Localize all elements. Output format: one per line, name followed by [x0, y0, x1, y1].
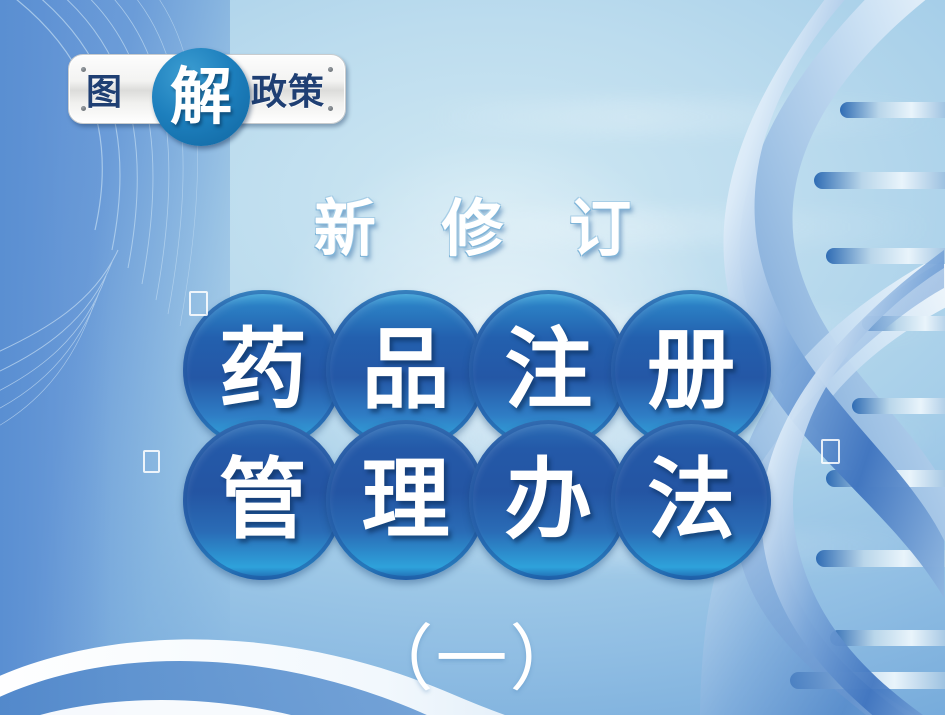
- title-row-2: 管 理 办 法: [183, 420, 771, 580]
- title-char: 品: [362, 326, 450, 414]
- title-circle: 理: [326, 420, 486, 580]
- badge-tujie-zhengce[interactable]: 图 政策 解: [68, 48, 348, 132]
- badge-left-text: 图: [86, 63, 123, 115]
- title-char: 理: [362, 456, 450, 544]
- title-circle: 法: [611, 420, 771, 580]
- screw-icon: [328, 67, 333, 72]
- missing-glyph-box: [821, 439, 840, 464]
- speech-bubble-icon: 解: [152, 48, 250, 146]
- poster-canvas: 图 政策 解 新 修 订 药 品 注 册 管 理 办 法 （一）: [0, 0, 945, 715]
- title-char: 册: [647, 326, 735, 414]
- title-circle: 管: [183, 420, 343, 580]
- badge-bubble-text: 解: [170, 66, 232, 128]
- missing-glyph-box: [143, 450, 160, 473]
- missing-glyph-box: [189, 291, 208, 316]
- badge-right-text: 政策: [251, 63, 325, 115]
- main-title-circles: 药 品 注 册 管 理 办 法: [183, 290, 771, 580]
- flowing-line-pattern-left: [0, 250, 118, 436]
- title-circle: 办: [469, 420, 629, 580]
- volume-number: （一）: [0, 600, 945, 705]
- title-char: 法: [647, 456, 735, 544]
- subtitle-text: 新 修 订: [0, 178, 945, 268]
- title-char: 药: [219, 326, 307, 414]
- screw-icon: [328, 106, 333, 111]
- title-char: 办: [504, 456, 592, 544]
- title-char: 管: [219, 456, 307, 544]
- title-char: 注: [504, 326, 592, 414]
